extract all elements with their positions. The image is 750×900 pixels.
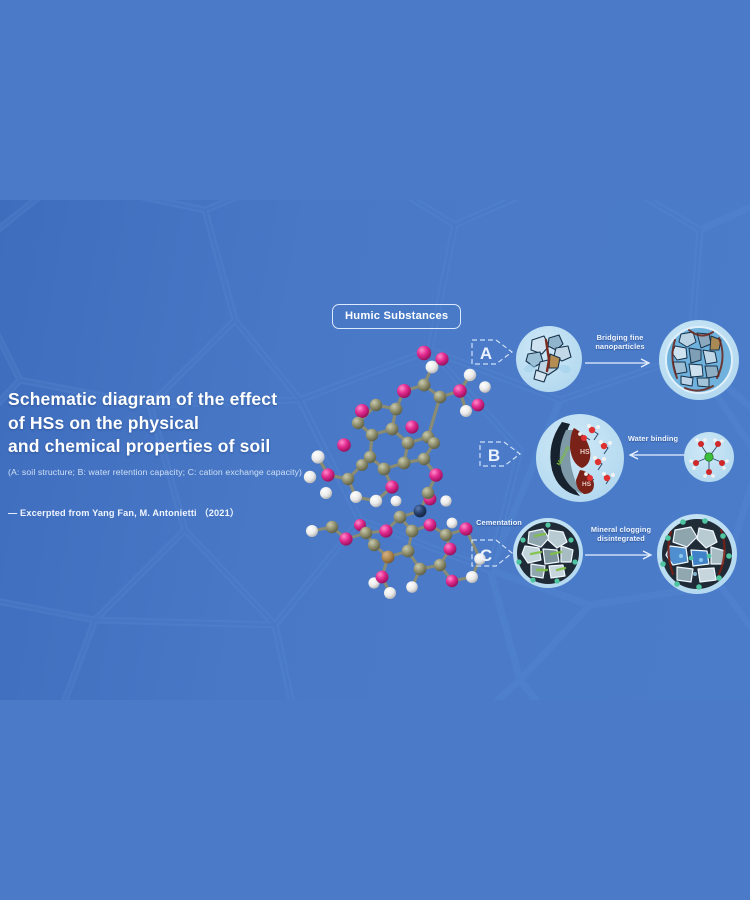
panel-a-process-label-line-2: nanoparticles (585, 342, 655, 351)
panel-c-right-circle (657, 514, 737, 594)
title-block: Schematic diagram of the effect of HSs o… (8, 388, 338, 478)
panel-a-left-circle (516, 326, 582, 392)
loose-soil-aggregate-illustration (516, 326, 582, 392)
panel-b-letter: B (488, 446, 500, 465)
page-title-line-1: Schematic diagram of the effect (8, 388, 338, 412)
hydrated-cation-cluster-illustration (684, 432, 734, 482)
page-title-line-3: and chemical properties of soil (8, 435, 338, 459)
page-title-line-2: of HSs on the physical (8, 412, 338, 436)
cemented-mineral-aggregate-illustration (513, 518, 583, 588)
panel-c-process-label-line-1: Mineral clogging (583, 525, 659, 534)
disintegrated-mineral-aggregate-illustration (657, 514, 737, 594)
panel-b-process-label: Water binding (627, 434, 679, 443)
panel-c-letter: C (480, 546, 492, 565)
panel-c-left-circle (513, 518, 583, 588)
svg-text:HS: HS (580, 449, 590, 456)
panel-b-right-circle (684, 432, 734, 482)
page-subtitle: (A: soil structure; B: water retention c… (8, 466, 338, 478)
panel-a-process-label: Bridging fine nanoparticles (585, 333, 655, 351)
panel-a-process-label-line-1: Bridging fine (585, 333, 655, 342)
panel-b-process-label-line-1: Water binding (627, 434, 679, 443)
panel-c-process-arrow-icon (583, 548, 661, 562)
bridged-soil-aggregate-illustration (659, 320, 739, 400)
hs-water-retention-illustration: HS HS Mineral (536, 414, 624, 502)
outer-background-bottom (0, 700, 750, 900)
panel-c-process-label: Mineral clogging disintegrated (583, 525, 659, 543)
panel-c-process-label-line-2: disintegrated (583, 534, 659, 543)
outer-background-top (0, 0, 750, 200)
panel-a-right-circle (659, 320, 739, 400)
panel-b-left-circle: HS HS Mineral (536, 414, 624, 502)
panel-a-letter: A (480, 344, 492, 363)
attribution-text: — Excerpted from Yang Fan, M. Antonietti… (8, 505, 348, 519)
panel-c-arrow-marker: C (470, 532, 516, 574)
panel-a-process-arrow-icon (583, 356, 659, 370)
panel-c-left-caption: Cementation (470, 518, 528, 527)
panel-a-arrow-marker: A (470, 332, 516, 372)
svg-text:HS: HS (582, 481, 592, 488)
slide-canvas: Schematic diagram of the effect of HSs o… (0, 0, 750, 900)
panel-b-arrow-marker: B (478, 434, 524, 474)
